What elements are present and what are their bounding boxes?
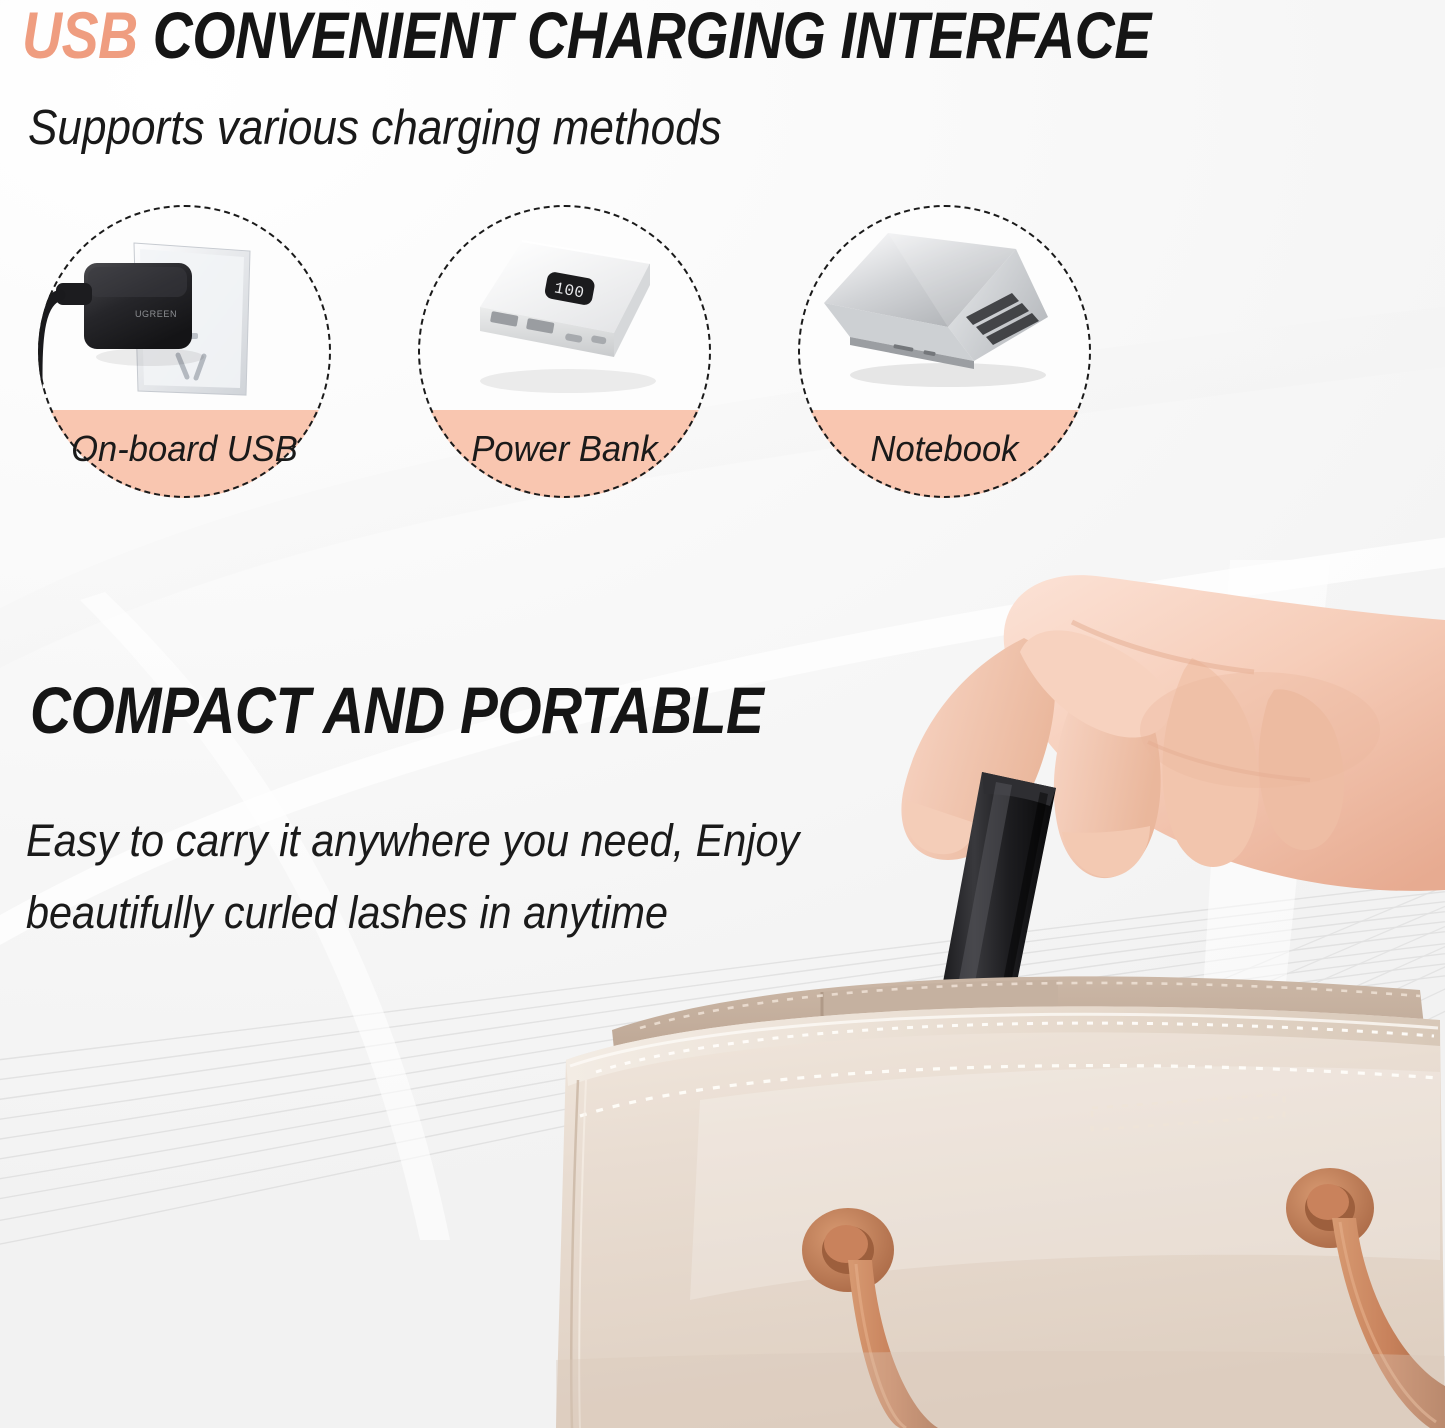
title-rest: CONVENIENT CHARGING INTERFACE [138, 0, 1151, 72]
charging-methods-group: UGREEN On-board USB [0, 205, 1445, 505]
page-title-charging: USB CONVENIENT CHARGING INTERFACE [22, 0, 1151, 72]
charging-method-card-onboard-usb: UGREEN On-board USB [38, 205, 331, 498]
card-label: Power Bank [424, 428, 705, 470]
wall-charger-icon: UGREEN [38, 205, 331, 410]
page-title-portable: COMPACT AND PORTABLE [30, 672, 763, 748]
subtitle-portable-line1: Easy to carry it anywhere you need, Enjo… [26, 805, 799, 877]
svg-text:UGREEN: UGREEN [135, 309, 177, 319]
handbag [556, 976, 1445, 1428]
power-bank-icon: 100 [418, 205, 711, 410]
laptop-icon [798, 205, 1091, 410]
subtitle-portable: Easy to carry it anywhere you need, Enjo… [26, 805, 799, 949]
title-accent-usb: USB [22, 0, 138, 72]
card-label: On-board USB [44, 428, 325, 470]
charging-method-card-power-bank: 100 Power Bank [418, 205, 711, 498]
subtitle-charging: Supports various charging methods [28, 98, 722, 158]
subtitle-portable-line2: beautifully curled lashes in anytime [26, 877, 799, 949]
card-label: Notebook [804, 428, 1085, 470]
charging-method-card-notebook: Notebook [798, 205, 1091, 498]
